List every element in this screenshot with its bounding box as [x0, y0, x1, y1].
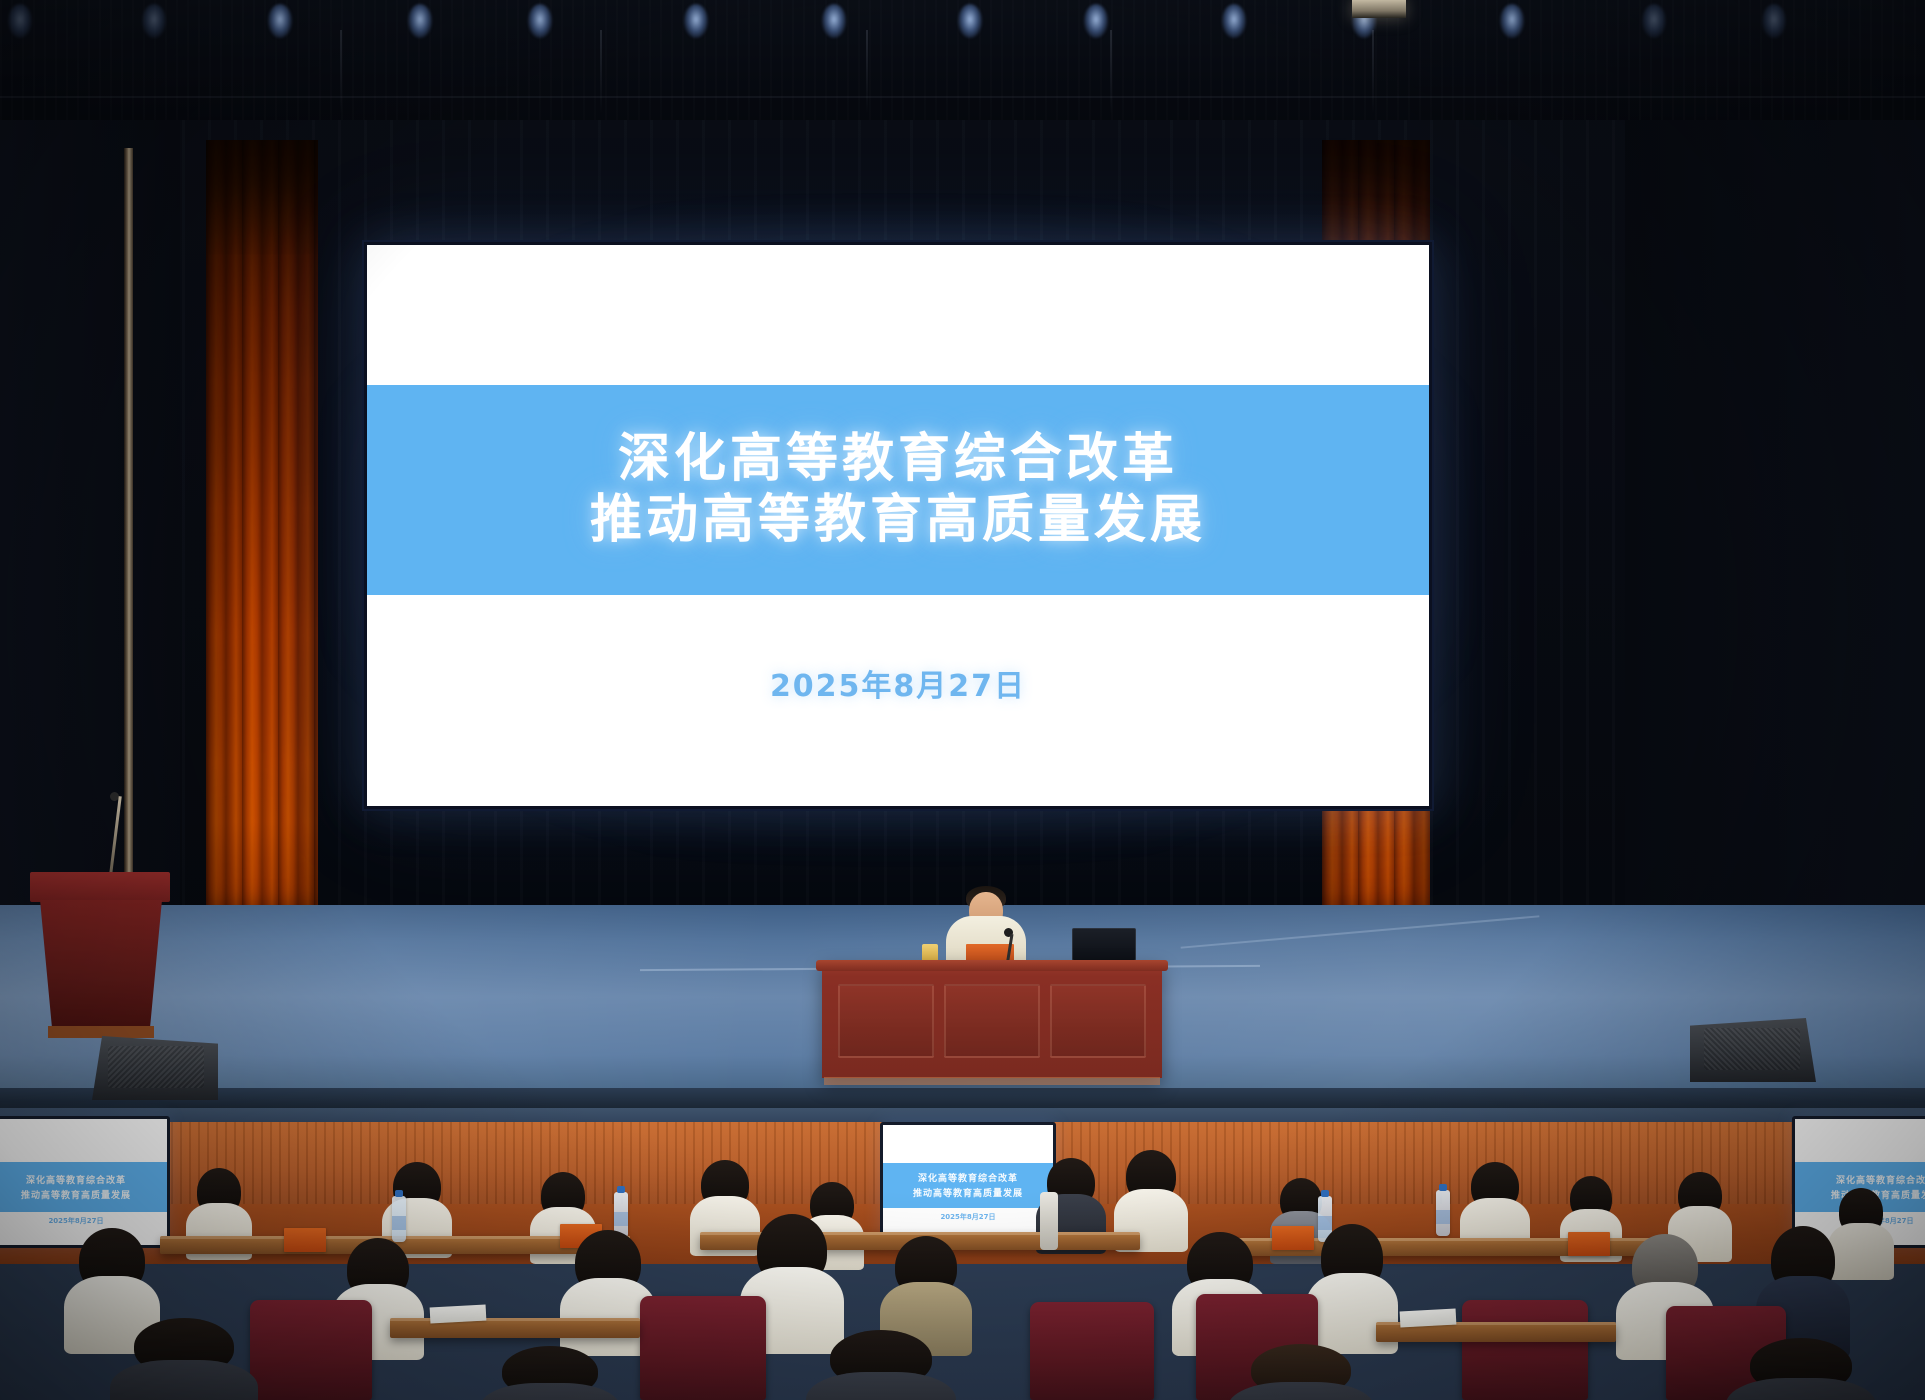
- stage-light-icon: [408, 4, 432, 38]
- stage-light-icon: [958, 4, 982, 38]
- speaker-grill: [108, 1046, 204, 1088]
- light-cable: [866, 30, 868, 114]
- monitor-slide-band: 深化高等教育综合改革 推动高等教育高质量发展: [0, 1162, 167, 1212]
- monitor-slide-top: [1795, 1119, 1925, 1162]
- lectern: [30, 872, 170, 1042]
- monitor-slide-band: 深化高等教育综合改革 推动高等教育高质量发展: [883, 1163, 1053, 1208]
- monitor-title-line-1: 深化高等教育综合改革: [1836, 1173, 1925, 1186]
- side-wall-left: [0, 120, 180, 920]
- stage-light-icon: [8, 4, 32, 38]
- conference-hall-scene: 深化高等教育综合改革 推动高等教育高质量发展 2025年8月27日: [0, 0, 1925, 1400]
- audience-member: [1726, 1338, 1876, 1400]
- handout-paper: [1400, 1309, 1457, 1328]
- light-cable: [1372, 30, 1374, 114]
- water-bottle: [1436, 1190, 1450, 1236]
- stage-light-icon: [528, 4, 552, 38]
- speaker-grill: [1704, 1028, 1800, 1070]
- audience-member: [1228, 1344, 1374, 1400]
- head-table-panel: [1050, 984, 1146, 1058]
- lighting-rail: [0, 96, 1925, 98]
- audience-member: [110, 1318, 258, 1400]
- slide-bottom-area: 2025年8月27日: [367, 595, 1429, 806]
- audience-chair: [1462, 1300, 1588, 1400]
- stage-monitor-speaker-left: [92, 1036, 218, 1100]
- monitor-title-line-2: 推动高等教育高质量发展: [913, 1186, 1023, 1199]
- light-cable: [1110, 30, 1112, 114]
- audience-chair: [640, 1296, 766, 1400]
- laptop-screen: [1072, 928, 1136, 961]
- stage-light-icon: [1642, 4, 1666, 38]
- head-table-panel: [838, 984, 934, 1058]
- stage-light-icon: [1084, 4, 1108, 38]
- audience-member: [806, 1330, 956, 1400]
- monitor-title-line-1: 深化高等教育综合改革: [918, 1171, 1018, 1184]
- head-table-lip: [816, 960, 1168, 971]
- stage-light-icon: [822, 4, 846, 38]
- projection-screen: 深化高等教育综合改革 推动高等教育高质量发展 2025年8月27日: [362, 240, 1434, 811]
- monitor-slide: 深化高等教育综合改革 推动高等教育高质量发展 2025年8月27日: [0, 1119, 167, 1245]
- stage-light-icon: [1222, 4, 1246, 38]
- stage-light-icon: [268, 4, 292, 38]
- audience-desk: [390, 1318, 640, 1338]
- audience-chair: [1030, 1302, 1154, 1400]
- monitor-slide-top: [883, 1125, 1053, 1163]
- slide-title-band: 深化高等教育综合改革 推动高等教育高质量发展: [367, 385, 1429, 595]
- audience-monitor-center: 深化高等教育综合改革 推动高等教育高质量发展 2025年8月27日: [880, 1122, 1056, 1240]
- water-bottle: [392, 1196, 406, 1242]
- gold-curtain-left: [206, 140, 318, 915]
- slide-title-line-1: 深化高等教育综合改革: [618, 432, 1178, 487]
- slide-title-line-2: 推动高等教育高质量发展: [590, 493, 1206, 548]
- light-cable: [600, 30, 602, 114]
- name-placard: [284, 1228, 326, 1252]
- slide-top-margin: [367, 245, 1429, 385]
- head-table-panel: [944, 984, 1040, 1058]
- monitor-title-line-1: 深化高等教育综合改革: [26, 1173, 126, 1186]
- head-table-base: [824, 1077, 1160, 1085]
- audience-chair: [250, 1300, 372, 1400]
- light-cable: [340, 30, 342, 114]
- monitor-slide-top: [0, 1119, 167, 1162]
- lectern-body: [40, 900, 162, 1030]
- stage-light-icon: [142, 4, 166, 38]
- side-wall-right: [1625, 120, 1925, 920]
- lectern-base: [48, 1026, 154, 1038]
- slide-date: 2025年8月27日: [367, 661, 1429, 705]
- curtain-pole: [124, 148, 133, 938]
- lectern-top: [30, 872, 170, 902]
- audience-member: [480, 1346, 620, 1400]
- spotlight-housing-icon: [1352, 0, 1406, 18]
- stage-light-icon: [1762, 4, 1786, 38]
- presentation-slide: 深化高等教育综合改革 推动高等教育高质量发展 2025年8月27日: [367, 245, 1429, 806]
- head-table: [822, 960, 1162, 1078]
- stage-monitor-speaker-right: [1690, 1018, 1816, 1082]
- name-placard: [1568, 1232, 1610, 1256]
- stage-light-icon: [1500, 4, 1524, 38]
- monitor-slide: 深化高等教育综合改革 推动高等教育高质量发展 2025年8月27日: [883, 1125, 1053, 1237]
- handout-paper: [430, 1305, 487, 1324]
- monitor-title-line-2: 推动高等教育高质量发展: [21, 1188, 131, 1201]
- thermos-flask: [1040, 1192, 1058, 1250]
- stage-light-icon: [684, 4, 708, 38]
